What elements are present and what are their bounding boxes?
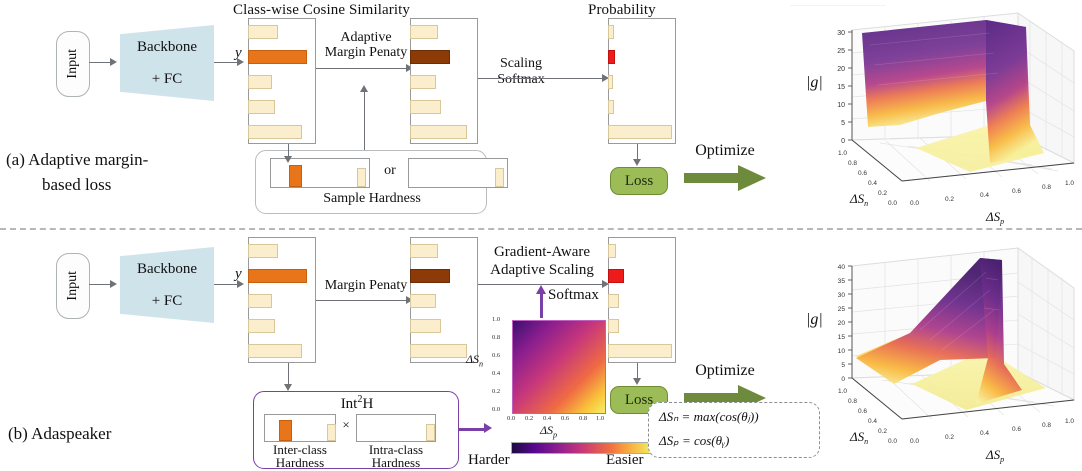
ztick-b-40: 40 xyxy=(838,264,846,271)
ztick-a-30: 30 xyxy=(837,30,845,37)
similarity-a-bar xyxy=(248,125,302,139)
input-label-a: Input xyxy=(65,49,81,79)
probability-b-bar xyxy=(608,319,619,333)
similarity-a-bar xyxy=(248,75,272,89)
ytick-a-0.0: 0.0 xyxy=(888,200,897,207)
equation-delta-sn: ΔSₙ = max(cos(θⱼ)) xyxy=(659,409,759,425)
ytick-a-0.8: 0.8 xyxy=(848,160,857,167)
margin-b-bar xyxy=(410,244,438,258)
int2h-box: Int2H × Inter-class Hardness Intra-class… xyxy=(253,391,459,469)
title-class-wise-cosine-similarity: Class-wise Cosine Similarity xyxy=(233,2,410,19)
zaxis-label-b: |g| xyxy=(806,311,823,328)
surface-plot-a: 0 5 10 15 20 25 30 1.0 0.8 0.6 0.4 0.2 0… xyxy=(790,5,1082,230)
colorbar-label-easier: Easier xyxy=(606,452,643,469)
heat-ytick-0.6: 0.6 xyxy=(492,352,500,359)
arrow-line-a-backbone xyxy=(214,62,238,63)
probability-b-bar xyxy=(608,294,619,308)
ytick-a-0.4: 0.4 xyxy=(868,180,877,187)
input-pill-b: Input xyxy=(56,253,90,319)
op-softmax-b: Softmax xyxy=(548,287,610,304)
margin-a-bar xyxy=(410,100,441,114)
ytick-a-0.6: 0.6 xyxy=(858,170,867,177)
probability-a-bar xyxy=(608,50,615,64)
backbone-label-a-2: + FC xyxy=(137,71,197,87)
inter-class-label-2: Hardness xyxy=(256,456,344,471)
op-scaling-a-2: Softmax xyxy=(480,72,562,88)
caption-b: (b) Adaspeaker xyxy=(8,424,111,443)
int2h-title: Int2H xyxy=(254,394,460,413)
op-adaptive-margin-a-1: Adaptive xyxy=(318,30,414,46)
xtick-a-1.0: 1.0 xyxy=(1065,180,1074,187)
margin-bars-a xyxy=(410,18,478,144)
arrow-head-b-input xyxy=(110,280,117,288)
probability-bars-b xyxy=(608,237,676,363)
int2h-post: H xyxy=(362,396,373,412)
y-label-b: y xyxy=(235,266,242,283)
ztick-a-5: 5 xyxy=(841,120,845,127)
arrow-line-b-softmax xyxy=(540,292,543,318)
ztick-b-0: 0 xyxy=(841,376,845,383)
similarity-a-bar xyxy=(248,25,278,39)
arrow-head-a-input xyxy=(110,58,117,66)
xtick-b-0.6: 0.6 xyxy=(1012,426,1021,433)
ztick-b-35: 35 xyxy=(838,278,846,285)
xtick-b-0.0: 0.0 xyxy=(910,438,919,445)
figure-root: (a) Adaptive margin- based loss Input Ba… xyxy=(0,0,1082,471)
similarity-a-bar xyxy=(248,100,275,114)
ztick-b-10: 10 xyxy=(838,348,846,355)
similarity-b-bar xyxy=(248,244,278,258)
margin-a-bar xyxy=(410,75,436,89)
ztick-a-20: 20 xyxy=(837,66,845,73)
adaptive-scaling-heatmap xyxy=(512,320,606,414)
times-symbol: × xyxy=(338,418,354,433)
intra-class-label-2: Hardness xyxy=(350,456,442,471)
arrow-line-b-to-int2h xyxy=(288,363,289,385)
arrow-line-b-backbone xyxy=(214,284,238,285)
probability-a-bar xyxy=(608,125,672,139)
input-pill-a: Input xyxy=(56,31,90,97)
probability-b-bar xyxy=(608,269,624,283)
arrow-line-int2h-heatmap xyxy=(459,428,485,431)
heat-ytick-0.2: 0.2 xyxy=(492,388,500,395)
probability-b-bar xyxy=(608,244,616,258)
ytick-b-0.0: 0.0 xyxy=(888,438,897,445)
ytick-b-0.4: 0.4 xyxy=(868,418,877,425)
inter-class-tail-bar xyxy=(327,424,336,441)
similarity-b-bar xyxy=(248,269,307,283)
arrow-head-a-to-hardness xyxy=(284,156,292,163)
intra-class-hardness-chart xyxy=(356,414,436,442)
input-label-b: Input xyxy=(65,271,81,301)
backbone-label-a-1: Backbone xyxy=(137,39,197,55)
ztick-b-20: 20 xyxy=(838,320,846,327)
colorbar-label-harder: Harder xyxy=(468,452,510,469)
ytick-a-1.0: 1.0 xyxy=(838,150,847,157)
heat-xtick-0.2: 0.2 xyxy=(525,415,533,422)
optimize-arrow-a xyxy=(684,165,766,191)
optimize-label-b: Optimize xyxy=(685,362,765,380)
or-label-a: or xyxy=(374,163,406,179)
backbone-label-b-1: Backbone xyxy=(137,261,197,277)
arrow-head-a-hardness-up xyxy=(360,85,368,92)
arrow-line-b-input xyxy=(89,284,111,285)
arrow-head-a-loss xyxy=(633,159,641,166)
ytick-b-0.6: 0.6 xyxy=(858,408,867,415)
inter-class-hardness-chart xyxy=(264,414,336,442)
heat-xtick-0.8: 0.8 xyxy=(579,415,587,422)
yaxis-label-b: ΔSn xyxy=(849,429,868,446)
xaxis-label-b: ΔSp xyxy=(985,447,1004,464)
xtick-a-0.2: 0.2 xyxy=(945,196,954,203)
similarity-b-bar xyxy=(248,294,272,308)
arrow-line-a-loss xyxy=(637,144,638,160)
margin-b-bar xyxy=(410,319,441,333)
arrow-line-b-margin xyxy=(316,300,408,301)
heat-ytick-1.0: 1.0 xyxy=(492,316,500,323)
similarity-bars-b xyxy=(248,237,316,363)
similarity-a-bar xyxy=(248,50,307,64)
ztick-a-10: 10 xyxy=(837,102,845,109)
arrow-head-int2h-heatmap xyxy=(484,423,492,433)
margin-b-bar xyxy=(410,269,450,283)
xtick-a-0.0: 0.0 xyxy=(910,200,919,207)
ytick-b-1.0: 1.0 xyxy=(838,388,847,395)
similarity-b-bar xyxy=(248,319,275,333)
heat-xtick-0.6: 0.6 xyxy=(561,415,569,422)
intra-class-tail-bar xyxy=(426,424,435,441)
margin-a-bar xyxy=(410,25,438,39)
heat-ytick-0.0: 0.0 xyxy=(492,406,500,413)
margin-a-bar xyxy=(410,125,467,139)
xtick-a-0.6: 0.6 xyxy=(1012,188,1021,195)
op-gradient-aware-b: Gradient-Aware xyxy=(478,244,606,261)
section-divider xyxy=(0,228,1082,230)
probability-b-bar xyxy=(608,344,672,358)
margin-b-bar xyxy=(410,344,467,358)
int2h-pre: Int xyxy=(341,396,358,412)
inter-class-bar xyxy=(279,420,292,441)
backbone-label-b-2: + FC xyxy=(137,293,197,309)
arrow-head-b-to-int2h xyxy=(284,384,292,391)
heat-ytick-0.4: 0.4 xyxy=(492,370,500,377)
surface-plot-b: 0 5 10 15 20 25 30 35 40 1.0 0.8 0.6 0.4… xyxy=(790,238,1082,466)
ztick-b-15: 15 xyxy=(838,334,846,341)
caption-a-line2: based loss xyxy=(42,175,111,194)
ztick-a-0: 0 xyxy=(841,138,845,145)
xtick-b-0.8: 0.8 xyxy=(1042,422,1051,429)
similarity-b-bar xyxy=(248,344,302,358)
ztick-a-15: 15 xyxy=(837,84,845,91)
loss-box-a: Loss xyxy=(610,167,668,195)
ytick-b-0.8: 0.8 xyxy=(848,398,857,405)
xtick-b-0.2: 0.2 xyxy=(945,434,954,441)
zaxis-label-a: |g| xyxy=(806,74,823,91)
backbone-block-b: Backbone + FC xyxy=(120,247,214,323)
loss-label-a: Loss xyxy=(625,173,653,190)
heat-xtick-1.0: 1.0 xyxy=(596,415,604,422)
equation-delta-sp: ΔSₚ = cos(θᵧ) xyxy=(659,433,729,449)
op-adaptive-scaling-b: Adaptive Scaling xyxy=(478,262,606,279)
op-scaling-a-1: Scaling xyxy=(480,56,562,72)
probability-bars-a xyxy=(608,18,676,144)
probability-a-bar xyxy=(608,25,614,39)
heat-xtick-0.0: 0.0 xyxy=(507,415,515,422)
xtick-b-1.0: 1.0 xyxy=(1065,418,1074,425)
sample-hardness-tail-bar-a xyxy=(357,168,366,187)
ytick-a-0.2: 0.2 xyxy=(878,190,887,197)
heatmap-yaxis-label: ΔSn xyxy=(466,352,483,368)
arrow-line-a-scaling xyxy=(478,78,604,79)
sample-hardness-right-chart-a xyxy=(408,158,508,188)
op-adaptive-margin-a-2: Margin Penaty xyxy=(318,45,414,61)
ztick-b-25: 25 xyxy=(838,306,846,313)
xtick-a-0.4: 0.4 xyxy=(980,192,989,199)
ztick-b-30: 30 xyxy=(838,292,846,299)
arrow-line-b-loss xyxy=(637,363,638,379)
probability-a-bar xyxy=(608,100,614,114)
sample-hardness-label-a: Sample Hardness xyxy=(256,191,488,207)
arrow-line-a-input xyxy=(89,62,111,63)
arrow-head-b-softmax xyxy=(536,285,546,294)
margin-b-bar xyxy=(410,294,436,308)
heat-ytick-0.8: 0.8 xyxy=(492,334,500,341)
margin-bars-b xyxy=(410,237,478,363)
op-margin-penalty-b: Margin Penaty xyxy=(318,278,414,294)
yaxis-label-a: ΔSn xyxy=(849,191,868,208)
optimize-label-a: Optimize xyxy=(685,142,765,160)
ytick-b-0.2: 0.2 xyxy=(878,428,887,435)
heat-xtick-0.4: 0.4 xyxy=(543,415,551,422)
similarity-bars-a xyxy=(248,18,316,144)
caption-a-line1: (a) Adaptive margin- xyxy=(6,150,148,169)
sample-hardness-tail-bar-a2 xyxy=(495,168,504,187)
backbone-block-a: Backbone + FC xyxy=(120,25,214,101)
y-label-a: y xyxy=(235,45,242,62)
ztick-b-5: 5 xyxy=(841,362,845,369)
margin-a-bar xyxy=(410,50,450,64)
sample-hardness-bar-a xyxy=(289,165,302,187)
probability-a-bar xyxy=(608,75,613,89)
arrow-line-a-hardness-up xyxy=(364,92,365,150)
heatmap-xaxis-label: ΔSp xyxy=(540,423,557,439)
xaxis-label-a: ΔSp xyxy=(985,209,1004,226)
xtick-b-0.4: 0.4 xyxy=(980,430,989,437)
xtick-a-0.8: 0.8 xyxy=(1042,184,1051,191)
arrow-line-a-margin xyxy=(316,68,408,69)
arrow-head-b-loss xyxy=(633,378,641,385)
ztick-a-25: 25 xyxy=(837,48,845,55)
title-probability-a: Probability xyxy=(588,2,656,19)
